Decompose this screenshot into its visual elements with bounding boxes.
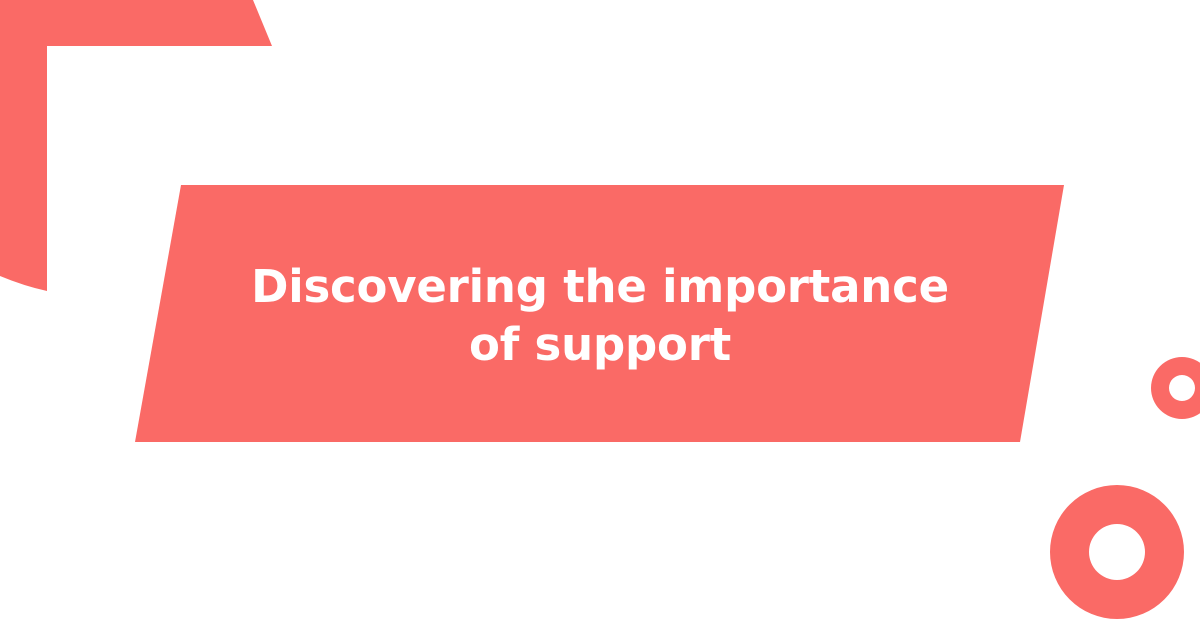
headline-banner-shape [135, 185, 1064, 442]
small-ring-shape [1151, 357, 1200, 419]
decorative-artwork [0, 0, 1200, 630]
social-card-canvas: Discovering the importance of support [0, 0, 1200, 630]
large-ring-shape [1050, 485, 1184, 619]
